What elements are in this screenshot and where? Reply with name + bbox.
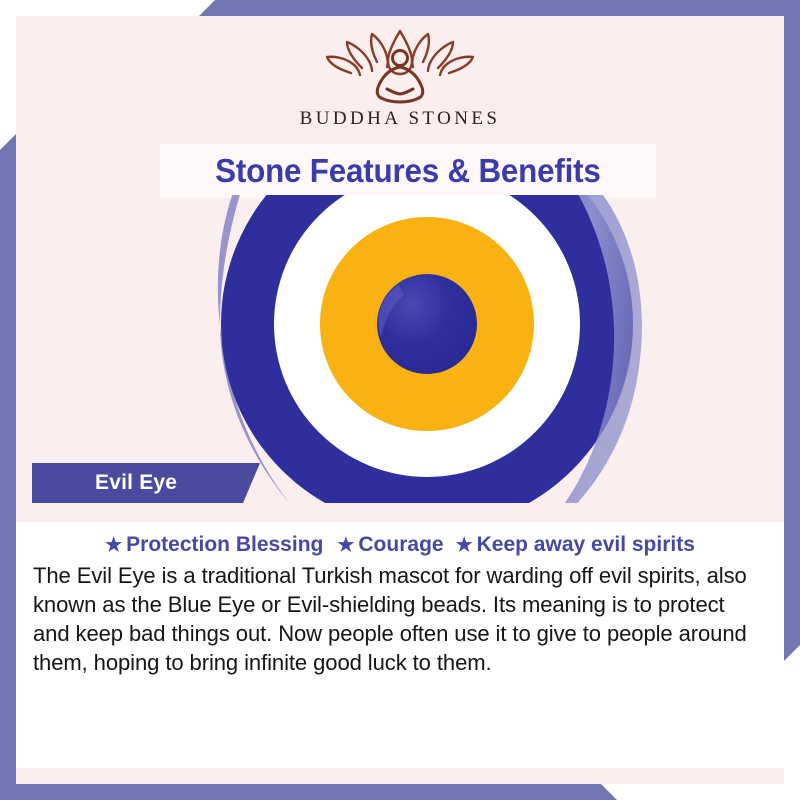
benefits-row: ★ Protection Blessing ★ Courage ★ Keep a… <box>16 528 784 562</box>
frame-accent-top <box>0 0 800 16</box>
product-description: The Evil Eye is a traditional Turkish ma… <box>33 561 758 677</box>
title-band: Stone Features & Benefits <box>160 144 656 198</box>
benefit-item-keep-away-evil-spirits: ★ Keep away evil spirits <box>456 533 695 557</box>
benefit-label: Protection Blessing <box>126 533 323 557</box>
poster-canvas: BUDDHA STONES Stone Features & Benefits <box>0 0 800 800</box>
frame-accent-right <box>784 0 800 800</box>
page-title: Stone Features & Benefits <box>215 152 600 190</box>
benefit-label: Keep away evil spirits <box>477 533 695 557</box>
frame-accent-bottom <box>0 784 800 800</box>
evil-eye-graphic <box>116 195 738 503</box>
star-icon: ★ <box>456 536 473 555</box>
star-icon: ★ <box>337 536 354 555</box>
star-icon: ★ <box>105 536 122 555</box>
frame-accent-left <box>0 0 16 800</box>
benefit-label: Courage <box>358 533 443 557</box>
product-label-text: Evil Eye <box>95 471 177 495</box>
bottom-cream-strip <box>16 768 784 784</box>
poster-card: BUDDHA STONES Stone Features & Benefits <box>16 16 784 784</box>
brand-name: BUDDHA STONES <box>300 108 501 130</box>
brand-header: BUDDHA STONES <box>16 16 784 142</box>
benefit-item-protection: ★ Protection Blessing <box>105 533 323 557</box>
product-image <box>116 195 738 503</box>
image-under-strip <box>16 503 784 522</box>
benefit-item-courage: ★ Courage <box>337 533 443 557</box>
lotus-meditation-icon <box>315 26 485 106</box>
product-label-banner: Evil Eye <box>32 463 260 503</box>
